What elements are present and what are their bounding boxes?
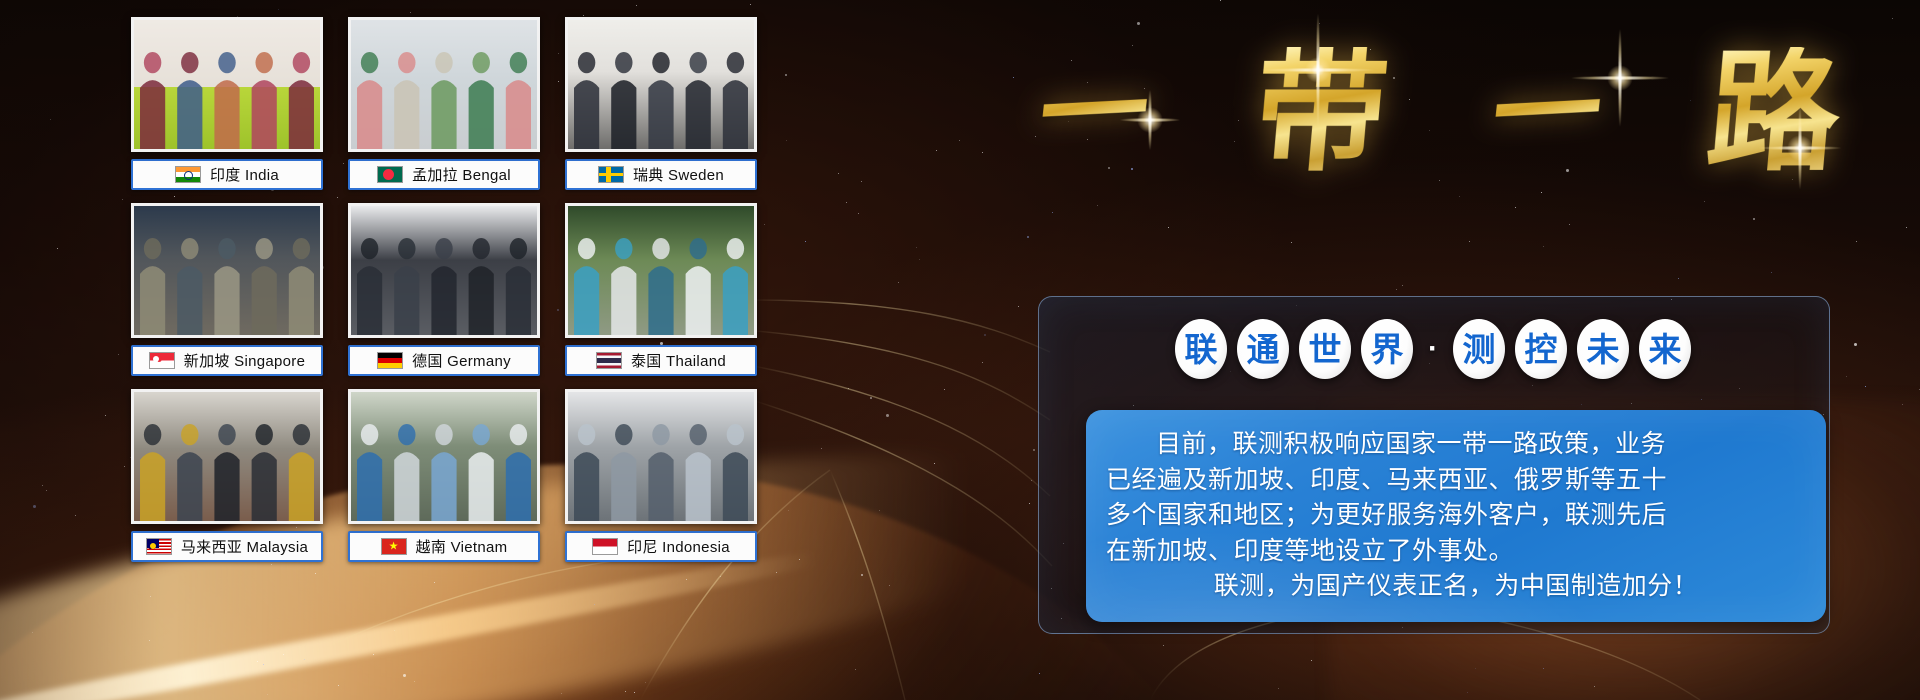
description-card: 目前，联测积极响应国家一带一路政策，业务已经遍及新加坡、印度、马来西亚、俄罗斯等… [1086, 410, 1826, 622]
country-label: 孟加拉 Bengal [412, 164, 511, 185]
country-caption: 新加坡 Singapore [131, 345, 323, 376]
country-label: 印度 India [210, 164, 279, 185]
country-label: 越南 Vietnam [416, 536, 508, 557]
slogan-row: 联通世界·测控未来 [1038, 310, 1828, 388]
slogan-char-text: 界 [1371, 333, 1404, 366]
slogan-char-text: 来 [1649, 333, 1682, 366]
gallery-cell[interactable]: 孟加拉 Bengal [348, 17, 540, 190]
country-photo[interactable] [565, 17, 757, 152]
country-label: 马来西亚 Malaysia [181, 536, 308, 557]
slogan-char: 未 [1576, 318, 1630, 380]
country-photo[interactable] [131, 17, 323, 152]
photo-people-illustration [134, 392, 320, 523]
bangladesh-flag [377, 166, 403, 183]
country-caption: 孟加拉 Bengal [348, 159, 540, 190]
slogan-char: 测 [1452, 318, 1506, 380]
slogan-separator-dot: · [1422, 334, 1444, 364]
slogan-char-text: 测 [1463, 333, 1496, 366]
gallery-cell[interactable]: 越南 Vietnam [348, 389, 540, 562]
slogan-char-text: 世 [1309, 333, 1342, 366]
calligraphy-char-4: 路 [1702, 47, 1846, 179]
slogan-char: 联 [1174, 318, 1228, 380]
calligraphy-char-3: 一 [1487, 56, 1607, 170]
gallery-cell[interactable]: 德国 Germany [348, 203, 540, 376]
vietnam-flag [381, 538, 407, 555]
country-photo-grid: 印度 India孟加拉 Bengal瑞典 Sweden新加坡 Singapore… [131, 17, 756, 564]
photo-people-illustration [134, 20, 320, 151]
country-photo[interactable] [131, 389, 323, 524]
gallery-cell[interactable]: 印度 India [131, 17, 323, 190]
country-label: 泰国 Thailand [631, 350, 726, 371]
slogan-char: 通 [1236, 318, 1290, 380]
country-caption: 印尼 Indonesia [565, 531, 757, 562]
country-caption: 印度 India [131, 159, 323, 190]
country-label: 新加坡 Singapore [184, 350, 305, 371]
slogan-char-text: 通 [1247, 333, 1280, 366]
slogan-char: 来 [1638, 318, 1692, 380]
country-label: 印尼 Indonesia [627, 536, 730, 557]
description-line: 在新加坡、印度等地设立了外事处。 [1106, 533, 1806, 569]
description-line: 多个国家和地区；为更好服务海外客户，联测先后 [1106, 497, 1806, 533]
slogan-char: 世 [1298, 318, 1352, 380]
country-photo[interactable] [565, 203, 757, 338]
slogan-char-text: 联 [1185, 333, 1218, 366]
headline-calligraphy: 一 带 一 路 [1040, 18, 1840, 208]
country-caption: 泰国 Thailand [565, 345, 757, 376]
country-photo[interactable] [348, 17, 540, 152]
country-label: 瑞典 Sweden [633, 164, 724, 185]
photo-people-illustration [351, 20, 537, 151]
gallery-cell[interactable]: 瑞典 Sweden [565, 17, 757, 190]
photo-people-illustration [134, 206, 320, 337]
photo-people-illustration [351, 392, 537, 523]
thailand-flag [596, 352, 622, 369]
description-line: 联测，为国产仪表正名，为中国制造加分！ [1106, 568, 1806, 604]
slogan-char-text: 未 [1587, 333, 1620, 366]
country-caption: 越南 Vietnam [348, 531, 540, 562]
sweden-flag [598, 166, 624, 183]
slogan-char: 控 [1514, 318, 1568, 380]
photo-people-illustration [568, 206, 754, 337]
calligraphy-char-2: 带 [1249, 47, 1393, 179]
description-line: 目前，联测积极响应国家一带一路政策，业务 [1106, 426, 1806, 462]
gallery-cell[interactable]: 印尼 Indonesia [565, 389, 757, 562]
singapore-flag [149, 352, 175, 369]
country-photo[interactable] [348, 203, 540, 338]
country-caption: 瑞典 Sweden [565, 159, 757, 190]
country-photo[interactable] [348, 389, 540, 524]
calligraphy-char-1: 一 [1034, 56, 1154, 170]
country-photo[interactable] [565, 389, 757, 524]
photo-people-illustration [351, 206, 537, 337]
country-caption: 德国 Germany [348, 345, 540, 376]
indonesia-flag [592, 538, 618, 555]
description-line: 已经遍及新加坡、印度、马来西亚、俄罗斯等五十 [1106, 462, 1806, 498]
gallery-cell[interactable]: 泰国 Thailand [565, 203, 757, 376]
gallery-cell[interactable]: 马来西亚 Malaysia [131, 389, 323, 562]
germany-flag [377, 352, 403, 369]
banner-stage: 印度 India孟加拉 Bengal瑞典 Sweden新加坡 Singapore… [0, 0, 1920, 700]
india-flag [175, 166, 201, 183]
country-label: 德国 Germany [412, 350, 511, 371]
gallery-cell[interactable]: 新加坡 Singapore [131, 203, 323, 376]
photo-people-illustration [568, 20, 754, 151]
country-photo[interactable] [131, 203, 323, 338]
photo-people-illustration [568, 392, 754, 523]
slogan-char-text: 控 [1525, 333, 1558, 366]
slogan-char: 界 [1360, 318, 1414, 380]
country-caption: 马来西亚 Malaysia [131, 531, 323, 562]
malaysia-flag [146, 538, 172, 555]
